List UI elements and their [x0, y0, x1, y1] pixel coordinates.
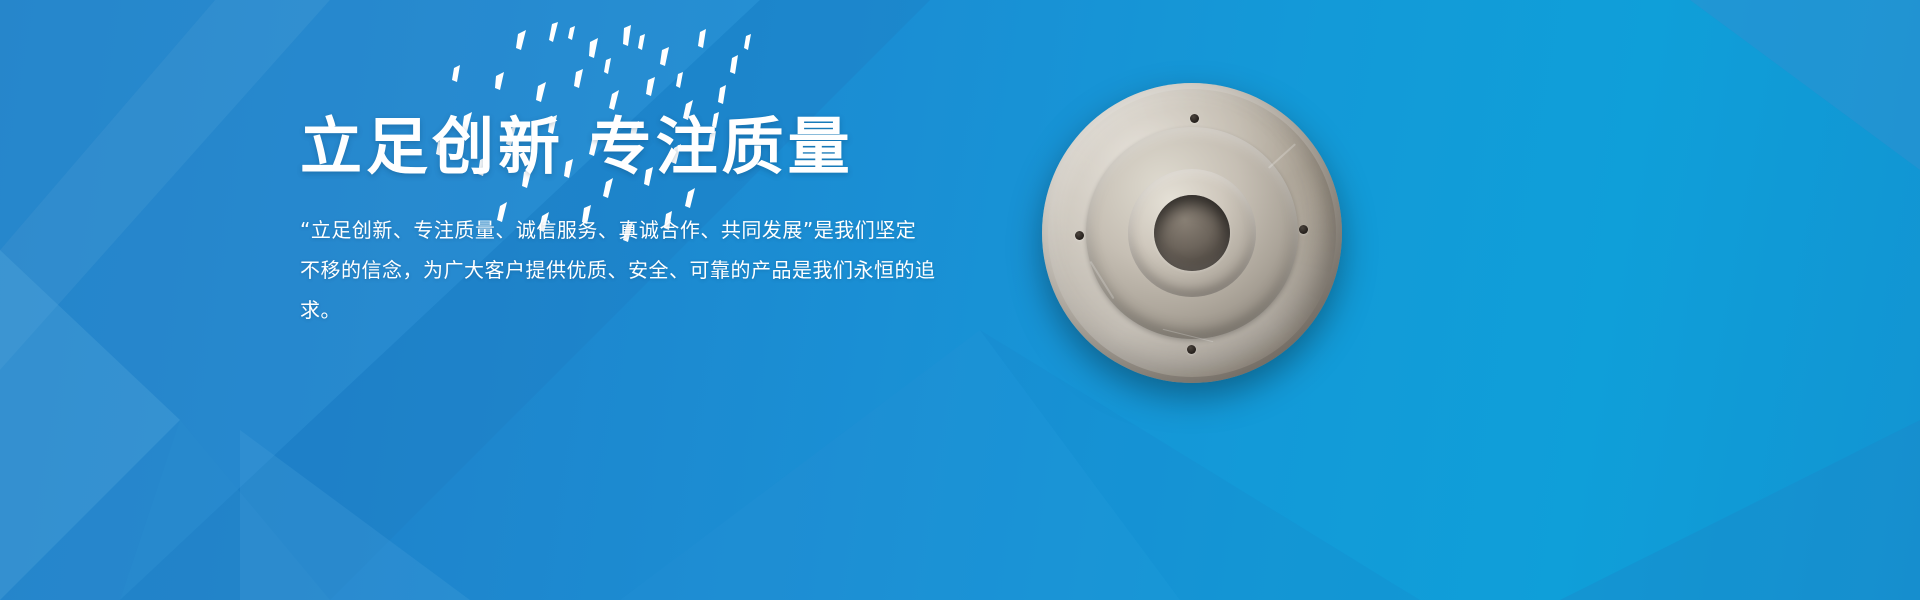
background-facets — [0, 0, 1920, 600]
bolt-hole — [1187, 345, 1196, 354]
banner-headline: 立足创新 专注质量 — [300, 110, 960, 184]
banner-subcopy: “立足创新、专注质量、诚信服务、真诚合作、共同发展”是我们坚定不移的信念，为广大… — [300, 210, 936, 330]
bolt-hole — [1190, 114, 1199, 123]
hero-banner: 立足创新 专注质量 “立足创新、专注质量、诚信服务、真诚合作、共同发展”是我们坚… — [0, 0, 1920, 600]
banner-text-block: 立足创新 专注质量 “立足创新、专注质量、诚信服务、真诚合作、共同发展”是我们坚… — [300, 110, 960, 330]
flange-center-bore — [1154, 195, 1230, 271]
bolt-hole — [1299, 225, 1308, 234]
bolt-hole — [1075, 231, 1084, 240]
product-image-flange — [1042, 83, 1342, 383]
